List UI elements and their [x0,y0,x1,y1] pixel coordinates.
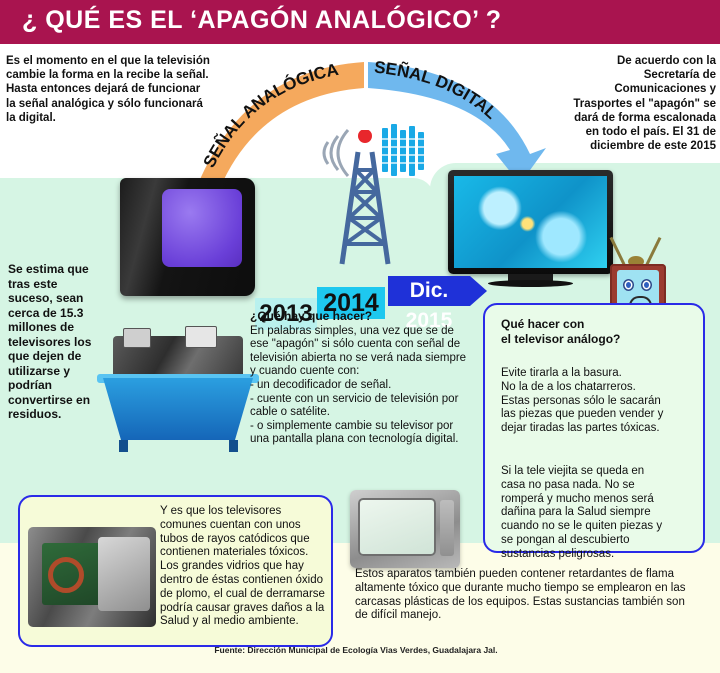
crt-screen [162,189,242,267]
flat-tv-screen [454,176,607,268]
what-to-do-heading: ¿Qué hay que hacer? [250,310,468,324]
mascot-eye-left [623,279,634,291]
analog-tv-advice-paragraph-2: Si la tele viejita se queda en casa no p… [501,465,697,562]
intro-left-text: Es el momento en el que la televisión ca… [6,54,211,125]
estimate-text: Se estima que tras este suceso, sean cer… [8,262,98,422]
cathode-ray-tube [98,537,150,611]
copper-coil [48,557,84,593]
antenna-light [358,130,372,143]
analog-tv-advice-box: Qué hacer con el televisor análogo? Evit… [483,303,705,553]
analog-tv-advice-heading: Qué hacer con el televisor análogo? [501,317,691,347]
opened-crt-image [28,527,156,627]
bottom-note-text: Estos aparatos también pueden contener r… [355,568,700,623]
dumpster-leg-right [229,440,238,452]
crt-television-image [120,178,255,298]
intro-right-text: De acuerdo con la Secretaría de Comunica… [570,54,716,153]
ewaste-dumpster-image [95,330,270,450]
dumpster-leg-left [119,440,128,452]
mascot-eye-right [641,279,652,291]
infographic-page: ¿ QUÉ ES EL ‘APAGÓN ANALÓGICO’ ? Es el m… [0,0,720,673]
digital-blocks-icon [378,122,438,184]
what-to-do-body: En palabras simples, una vez que se de e… [250,325,468,447]
what-to-do-block: ¿Qué hay que hacer? En palabras simples,… [250,310,468,447]
grey-tv-control-panel [440,500,454,556]
crt-toxic-box: Y es que los televisores comunes cuentan… [18,495,333,647]
analog-tv-advice-paragraph-1: Evite tirarla a la basura. No la de a lo… [501,367,697,436]
page-title: ¿ QUÉ ES EL ‘APAGÓN ANALÓGICO’ ? [22,6,501,35]
source-credit: Fuente: Dirección Municipal de Ecología … [0,645,712,655]
flat-tv-base [488,280,573,287]
signal-waves-icon [300,118,360,188]
crt-toxic-text: Y es que los televisores comunes cuentan… [160,505,330,629]
timeline-year-2015: Dic. 2015 [388,276,470,306]
dumpster-body [103,378,253,440]
grey-tv-screen [358,498,436,556]
grey-television-image [350,490,460,570]
title-bar: ¿ QUÉ ES EL ‘APAGÓN ANALÓGICO’ ? [0,0,720,44]
